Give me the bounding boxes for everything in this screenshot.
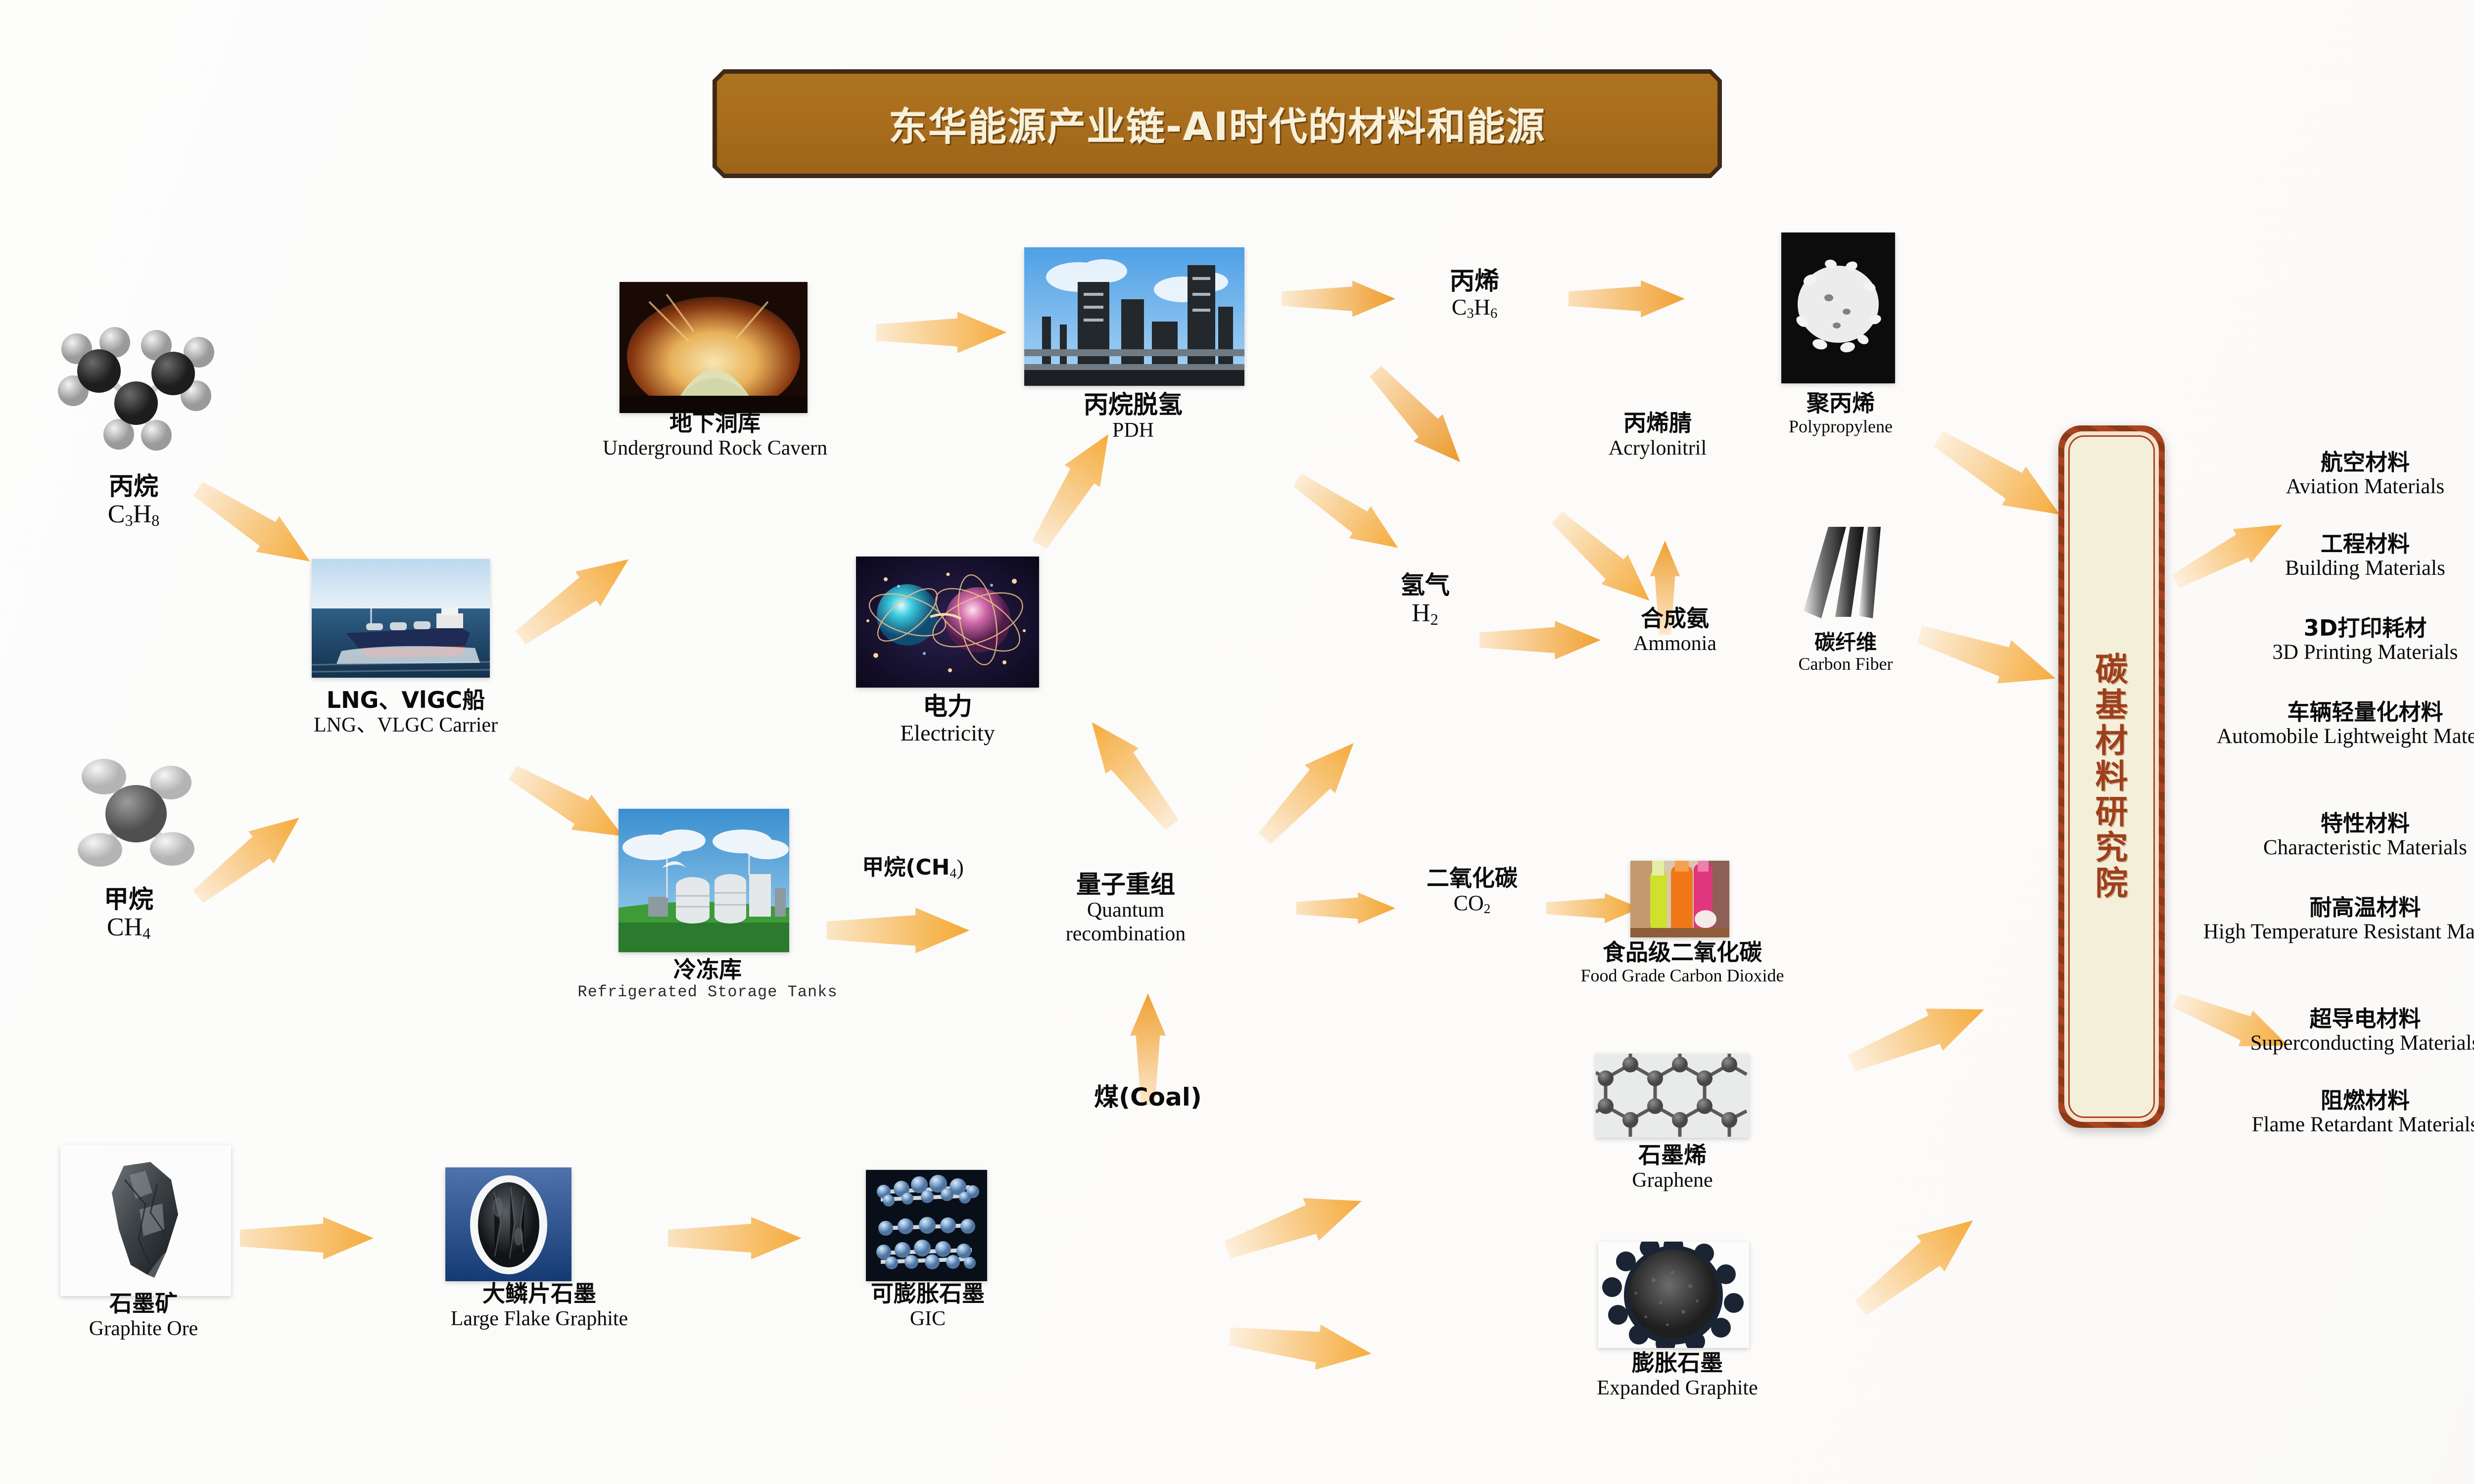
carrier-label-en: LNG、VLGC Carrier bbox=[277, 713, 534, 737]
gic-label-cn: 可膨胀石墨 bbox=[821, 1281, 1034, 1307]
propane-label-cn: 丙烷 bbox=[30, 472, 238, 500]
material-superconducting-cn: 超导电材料 bbox=[2177, 1007, 2474, 1031]
institute-char-5: 研 bbox=[2095, 796, 2128, 829]
flake-graphite-image bbox=[445, 1167, 571, 1281]
refrigerated-label-en: Refrigerated Storage Tanks bbox=[569, 983, 846, 1001]
node-propane: 丙烷 C3H8 bbox=[30, 472, 238, 530]
node-coal: 煤(Coal) bbox=[1059, 1083, 1237, 1111]
quantum-label-en2: recombination bbox=[1019, 922, 1232, 946]
cavern-label-cn: 地下洞库 bbox=[534, 411, 896, 436]
node-co2: 二氧化碳 CO2 bbox=[1380, 866, 1564, 916]
pdh-label-cn: 丙烷脱氢 bbox=[970, 391, 1296, 418]
co2-formula: CO2 bbox=[1380, 891, 1564, 916]
arrow-flake-to-gic bbox=[663, 1217, 807, 1259]
material-aviation-en: Aviation Materials bbox=[2177, 475, 2474, 499]
node-food-grade-co2: 食品级二氧化碳 Food Grade Carbon Dioxide bbox=[1524, 940, 1841, 986]
material-3dprinting-en: 3D Printing Materials bbox=[2177, 641, 2474, 664]
arrow-gic-to-expanded bbox=[1185, 1308, 1416, 1381]
arrow-pdh-to-hydrogen bbox=[1285, 464, 1410, 564]
acrylonitrile-label-cn: 丙烯腈 bbox=[1529, 411, 1786, 436]
arrow-quantum-to-electricity bbox=[1070, 702, 1194, 845]
material-hightemp-en: High Temperature Resistant Materials bbox=[2177, 920, 2474, 944]
pillar-inner: 碳 基 材 料 研 究 院 bbox=[2068, 435, 2155, 1118]
acrylonitrile-label-en: Acrylonitril bbox=[1529, 436, 1786, 460]
propane-formula: C3H8 bbox=[30, 500, 238, 530]
material-characteristic-cn: 特性材料 bbox=[2177, 811, 2474, 836]
node-methane: 甲烷 CH4 bbox=[30, 885, 228, 943]
institute-char-3: 材 bbox=[2095, 725, 2128, 757]
arrow-graphene-to-institute bbox=[1822, 980, 2014, 1093]
foodco2-label-cn: 食品级二氧化碳 bbox=[1524, 940, 1841, 966]
institute-char-2: 基 bbox=[2095, 689, 2128, 722]
node-hydrogen: 氢气 H2 bbox=[1331, 571, 1519, 629]
arrow-expanded-to-institute bbox=[1827, 1187, 2007, 1342]
material-3dprinting-cn: 3D打印耗材 bbox=[2177, 616, 2474, 641]
material-item-flameretardant: 阻燃材料 Flame Retardant Materials bbox=[2177, 1088, 2474, 1137]
institute-char-7: 院 bbox=[2095, 867, 2128, 900]
arrow-carrier-to-refrigerated bbox=[502, 754, 634, 854]
material-item-characteristic: 特性材料 Characteristic Materials bbox=[2177, 811, 2474, 860]
hydrogen-label-cn: 氢气 bbox=[1331, 571, 1519, 599]
methane-label-cn: 甲烷 bbox=[30, 885, 228, 913]
lng-carrier-image bbox=[312, 559, 490, 678]
cavern-label-en: Underground Rock Cavern bbox=[534, 436, 896, 460]
foodco2-label-en: Food Grade Carbon Dioxide bbox=[1524, 966, 1841, 986]
title-banner-inner: 东华能源产业链-AI时代的材料和能源 bbox=[717, 74, 1717, 174]
coal-label: 煤(Coal) bbox=[1059, 1083, 1237, 1111]
food-grade-co2-image bbox=[1630, 861, 1729, 937]
methane-molecule-image bbox=[69, 752, 203, 876]
electricity-image bbox=[856, 556, 1039, 688]
pdh-label-en: PDH bbox=[970, 418, 1296, 442]
quantum-label-en1: Quantum bbox=[1019, 898, 1232, 922]
arrow-cavern-to-pdh bbox=[876, 312, 1007, 353]
polypropylene-image bbox=[1781, 232, 1895, 383]
node-graphene: 石墨烯 Graphene bbox=[1544, 1143, 1801, 1192]
arrow-propylene-to-acrylonitrile bbox=[1356, 353, 1479, 481]
material-automobile-en: Automobile Lightweight Materials bbox=[2177, 725, 2474, 748]
arrow-acrylonitrile-to-carbonfiber bbox=[1540, 500, 1666, 618]
quantum-label-cn: 量子重组 bbox=[1019, 871, 1232, 898]
refrigerated-tanks-image bbox=[618, 809, 789, 952]
institute-char-1: 碳 bbox=[2095, 653, 2128, 686]
page-title: 东华能源产业链-AI时代的材料和能源 bbox=[889, 96, 1546, 151]
graphene-image bbox=[1596, 1054, 1749, 1138]
ore-label-en: Graphite Ore bbox=[30, 1317, 257, 1341]
expanded-graphite-image bbox=[1598, 1242, 1749, 1348]
co2-label-cn: 二氧化碳 bbox=[1380, 866, 1564, 891]
methane-formula: CH4 bbox=[30, 913, 228, 943]
arrow-quantum-to-hydrogen bbox=[1241, 721, 1377, 861]
carbonfiber-label-en: Carbon Fiber bbox=[1732, 654, 1959, 674]
material-aviation-cn: 航空材料 bbox=[2177, 450, 2474, 475]
pillar-mid-frame: 碳 基 材 料 研 究 院 bbox=[2064, 431, 2159, 1122]
material-flameretardant-cn: 阻燃材料 bbox=[2177, 1088, 2474, 1113]
pdh-plant-image bbox=[1024, 247, 1244, 386]
arrow-electricity-to-pdh bbox=[1021, 423, 1126, 556]
node-refrigerated-tanks: 冷冻库 Refrigerated Storage Tanks bbox=[569, 957, 846, 1001]
graphene-label-en: Graphene bbox=[1544, 1168, 1801, 1192]
node-lng-carrier: LNG、VlGC船 LNG、VLGC Carrier bbox=[277, 688, 534, 737]
material-building-cn: 工程材料 bbox=[2177, 532, 2474, 556]
institute-char-4: 料 bbox=[2095, 760, 2128, 793]
material-hightemp-cn: 耐高温材料 bbox=[2177, 895, 2474, 920]
material-automobile-cn: 车辆轻量化材料 bbox=[2177, 700, 2474, 725]
material-item-superconducting: 超导电材料 Superconducting Materials bbox=[2177, 1007, 2474, 1056]
propane-molecule-image bbox=[54, 322, 218, 465]
arrow-gic-to-graphene bbox=[1180, 1165, 1409, 1286]
refrigerated-label-cn: 冷冻库 bbox=[569, 957, 846, 983]
node-graphite-ore: 石墨矿 Graphite Ore bbox=[30, 1291, 257, 1341]
institute-char-6: 究 bbox=[2095, 832, 2128, 864]
carrier-label-cn: LNG、VlGC船 bbox=[277, 688, 534, 713]
diagram-canvas: 东华能源产业链-AI时代的材料和能源 bbox=[0, 0, 2474, 1484]
propylene-label-cn: 丙烯 bbox=[1371, 267, 1578, 295]
hydrogen-formula: H2 bbox=[1331, 599, 1519, 629]
material-item-automobile: 车辆轻量化材料 Automobile Lightweight Materials bbox=[2177, 700, 2474, 749]
material-characteristic-en: Characteristic Materials bbox=[2177, 836, 2474, 860]
carbonfiber-label-cn: 碳纤维 bbox=[1732, 631, 1959, 654]
electricity-label-en: Electricity bbox=[831, 720, 1064, 746]
flake-label-cn: 大鳞片石墨 bbox=[391, 1281, 688, 1307]
graphene-label-cn: 石墨烯 bbox=[1544, 1143, 1801, 1168]
arrow-propylene-to-polypropylene bbox=[1569, 279, 1685, 318]
node-quantum-recombination: 量子重组 Quantum recombination bbox=[1019, 871, 1232, 946]
material-item-hightemp: 耐高温材料 High Temperature Resistant Materia… bbox=[2177, 895, 2474, 944]
node-propylene: 丙烯 C3H6 bbox=[1371, 267, 1578, 322]
gic-label-en: GIC bbox=[821, 1307, 1034, 1331]
expanded-label-cn: 膨胀石墨 bbox=[1524, 1350, 1831, 1376]
node-electricity: 电力 Electricity bbox=[831, 693, 1064, 746]
material-item-aviation: 航空材料 Aviation Materials bbox=[2177, 450, 2474, 499]
ammonia-label-cn: 合成氨 bbox=[1578, 606, 1771, 632]
arrow-ore-to-flake bbox=[233, 1217, 381, 1259]
node-acrylonitrile: 丙烯腈 Acrylonitril bbox=[1529, 411, 1786, 460]
node-gic: 可膨胀石墨 GIC bbox=[821, 1281, 1034, 1331]
node-rock-cavern: 地下洞库 Underground Rock Cavern bbox=[534, 411, 896, 460]
rock-cavern-image bbox=[619, 282, 808, 413]
material-flameretardant-en: Flame Retardant Materials bbox=[2177, 1113, 2474, 1137]
carbon-materials-institute-pillar: 碳 基 材 料 研 究 院 bbox=[2058, 425, 2165, 1128]
node-flake-graphite: 大鳞片石墨 Large Flake Graphite bbox=[391, 1281, 688, 1331]
expanded-label-en: Expanded Graphite bbox=[1524, 1376, 1831, 1400]
ore-label-cn: 石墨矿 bbox=[30, 1291, 257, 1317]
arrow-carrier-to-cavern bbox=[502, 538, 647, 659]
node-pdh: 丙烷脱氢 PDH bbox=[970, 391, 1296, 442]
edge-label-methane: 甲烷(CH4) bbox=[831, 856, 995, 881]
material-superconducting-en: Superconducting Materials bbox=[2177, 1031, 2474, 1055]
flake-label-en: Large Flake Graphite bbox=[391, 1307, 688, 1331]
arrow-refrigerated-to-quantum bbox=[816, 908, 980, 953]
electricity-label-cn: 电力 bbox=[831, 693, 1064, 720]
title-banner: 东华能源产业链-AI时代的材料和能源 bbox=[713, 69, 1722, 178]
material-item-building: 工程材料 Building Materials bbox=[2177, 532, 2474, 581]
node-carbon-fiber: 碳纤维 Carbon Fiber bbox=[1732, 631, 1959, 674]
gic-image bbox=[866, 1170, 987, 1281]
carbon-fiber-image bbox=[1799, 527, 1888, 631]
graphite-ore-image bbox=[60, 1145, 231, 1296]
node-expanded-graphite: 膨胀石墨 Expanded Graphite bbox=[1524, 1350, 1831, 1400]
methane-edge-label: 甲烷(CH4) bbox=[862, 855, 964, 880]
material-building-en: Building Materials bbox=[2177, 556, 2474, 580]
propylene-formula: C3H6 bbox=[1371, 295, 1578, 322]
material-item-3dprinting: 3D打印耗材 3D Printing Materials bbox=[2177, 616, 2474, 665]
